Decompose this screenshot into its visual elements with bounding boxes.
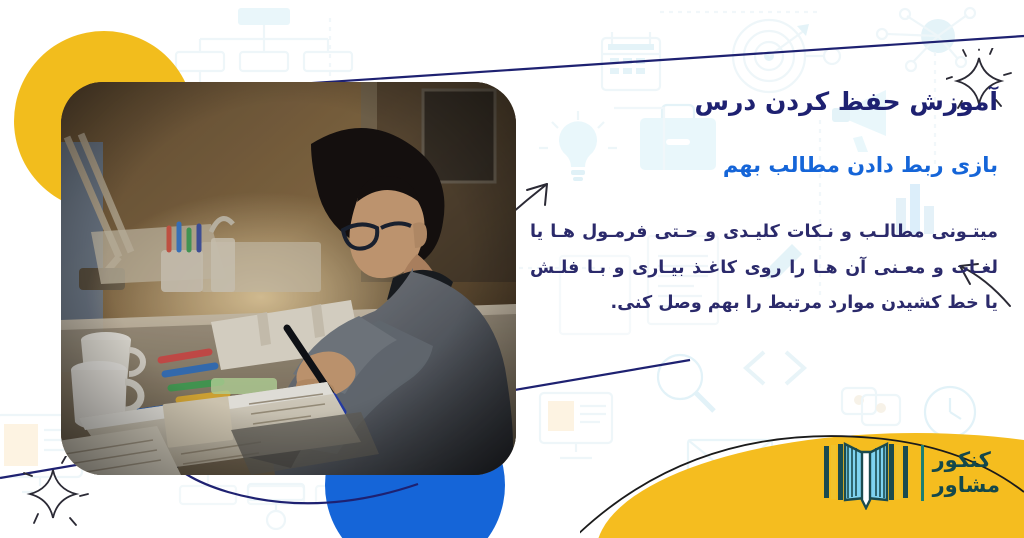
- text-content: آموزش حفظ کردن درس بازی ربط دادن مطالب ب…: [498, 84, 998, 322]
- calendar-icon: [602, 32, 660, 90]
- logo-line-2: مشاور: [933, 473, 1000, 498]
- target-dartboard-icon: [733, 20, 840, 92]
- logo-line-1: کنکور: [933, 448, 991, 473]
- promo-banner: آموزش حفظ کردن درس بازی ربط دادن مطالب ب…: [0, 0, 1024, 538]
- network-nodes-icon: [877, 8, 975, 71]
- brand-logo[interactable]: کنکور مشاور: [820, 436, 1000, 510]
- presentation-screen-icon: [540, 393, 612, 458]
- node-circle-icon: [248, 484, 304, 529]
- chat-bubbles-icon: [842, 388, 900, 425]
- clock-icon: [925, 387, 975, 437]
- logo-divider: [921, 445, 924, 501]
- page-title: آموزش حفظ کردن درس: [498, 84, 998, 120]
- code-brackets-icon: [746, 352, 804, 384]
- open-book-icon: [820, 436, 912, 510]
- magnifier-icon: [658, 355, 714, 411]
- subtitle: بازی ربط دادن مطالب بهم: [498, 150, 998, 180]
- student-study-photo: [61, 82, 516, 475]
- body-paragraph: میتـونی مطالـب و نـکات کلیـدی و حـتی فرم…: [498, 215, 998, 323]
- photo-illustration: [61, 82, 516, 475]
- logo-wordmark: کنکور مشاور: [933, 448, 1000, 498]
